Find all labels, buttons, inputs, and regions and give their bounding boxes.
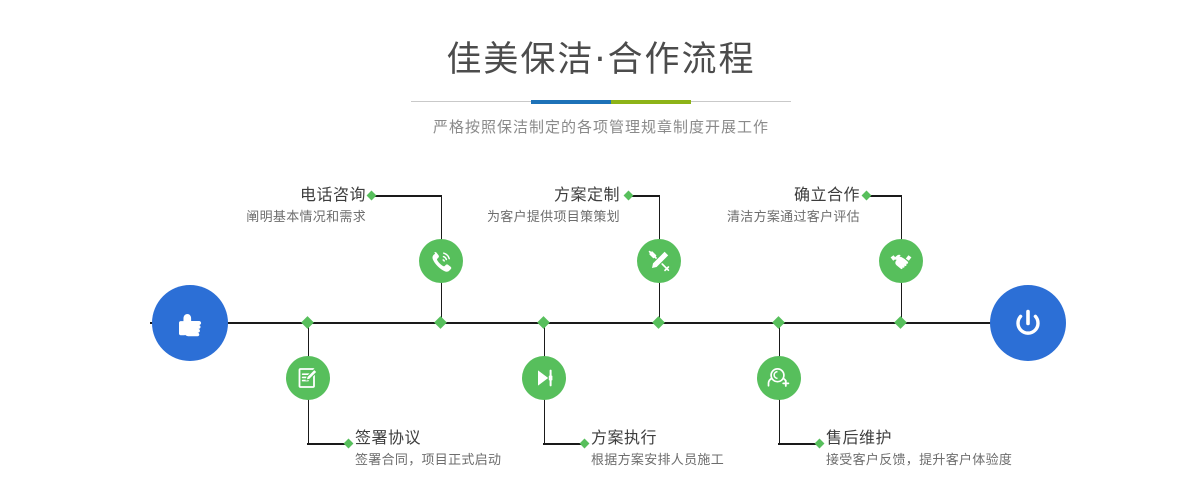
step-elbow-2	[307, 443, 348, 445]
step-title-3: 方案定制	[455, 185, 620, 205]
step-node-1[interactable]	[419, 239, 463, 283]
step-title-1: 电话咨询	[206, 185, 366, 205]
timeline: 电话咨询 阐明基本情况和需求 签署协议 签署合同，项目正式启动	[0, 0, 1202, 502]
timeline-start-node[interactable]	[152, 285, 228, 361]
timeline-end-node[interactable]	[990, 285, 1066, 361]
step-label-3: 方案定制 为客户提供项目策策划	[455, 185, 620, 228]
step-label-5: 确立合作 清洁方案通过客户评估	[695, 185, 860, 228]
step-node-2[interactable]	[286, 356, 330, 400]
step-diamond-label-2	[344, 439, 354, 449]
flow-diagram-page: 佳美保洁·合作流程 严格按照保洁制定的各项管理规章制度开展工作	[0, 0, 1202, 502]
handshake-icon	[888, 248, 914, 274]
step-desc-4: 根据方案安排人员施工	[591, 451, 724, 471]
step-title-5: 确立合作	[695, 185, 860, 205]
step-desc-5: 清洁方案通过客户评估	[695, 208, 860, 228]
step-desc-2: 签署合同，项目正式启动	[355, 451, 501, 471]
step-diamond-label-5	[862, 191, 872, 201]
step-desc-3: 为客户提供项目策策划	[455, 208, 620, 228]
step-title-6: 售后维护	[826, 428, 1012, 448]
step-diamond-label-6	[815, 439, 825, 449]
step-node-3[interactable]	[637, 239, 681, 283]
step-label-4: 方案执行 根据方案安排人员施工	[591, 428, 724, 471]
step-desc-1: 阐明基本情况和需求	[206, 208, 366, 228]
step-elbow-4	[543, 443, 584, 445]
step-diamond-label-4	[580, 439, 590, 449]
step-label-1: 电话咨询 阐明基本情况和需求	[206, 185, 366, 228]
headset-support-icon	[766, 365, 792, 391]
step-diamond-label-1	[367, 191, 377, 201]
step-label-6: 售后维护 接受客户反馈，提升客户体验度	[826, 428, 1012, 471]
phone-call-icon	[428, 248, 454, 274]
step-title-2: 签署协议	[355, 428, 501, 448]
pointing-hand-icon	[170, 303, 210, 343]
step-node-6[interactable]	[757, 356, 801, 400]
step-elbow-1	[371, 195, 441, 197]
step-diamond-axis-6	[772, 316, 785, 329]
document-pen-icon	[295, 365, 321, 391]
timeline-axis	[150, 322, 1052, 324]
step-elbow-6	[778, 443, 819, 445]
step-node-5[interactable]	[879, 239, 923, 283]
step-diamond-axis-4	[537, 316, 550, 329]
power-button-icon	[1008, 303, 1048, 343]
play-execute-icon	[531, 365, 557, 391]
step-desc-6: 接受客户反馈，提升客户体验度	[826, 451, 1012, 471]
step-diamond-axis-1	[434, 316, 447, 329]
step-diamond-axis-5	[894, 316, 907, 329]
pencil-ruler-icon	[646, 248, 672, 274]
step-node-4[interactable]	[522, 356, 566, 400]
step-diamond-axis-2	[301, 316, 314, 329]
step-diamond-axis-3	[652, 316, 665, 329]
step-label-2: 签署协议 签署合同，项目正式启动	[355, 428, 501, 471]
step-title-4: 方案执行	[591, 428, 724, 448]
step-diamond-label-3	[624, 191, 634, 201]
